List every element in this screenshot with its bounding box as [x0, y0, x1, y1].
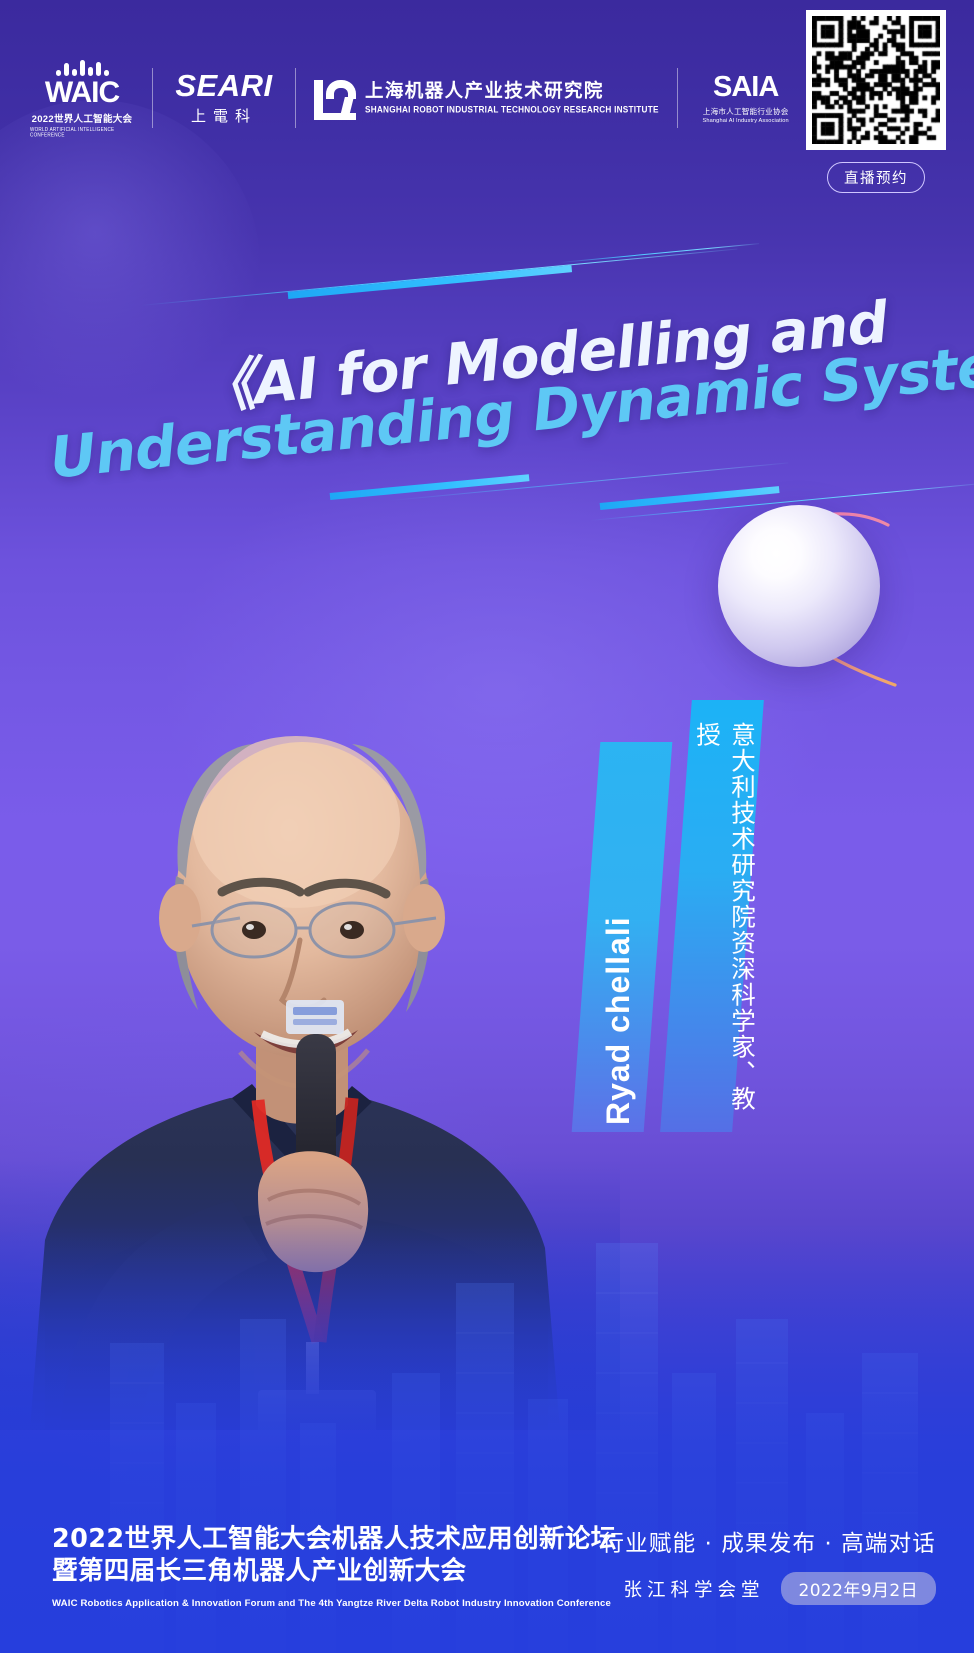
decor-line-thin-1: [140, 249, 737, 307]
poster-root: WAIC 2022世界人工智能大会 WORLD ARTIFICIAL INTEL…: [0, 0, 974, 1653]
seari-chinese-name: 上電科: [191, 105, 257, 126]
logo-divider: [152, 68, 153, 128]
footer-slogan: 行业赋能 · 成果发布 · 高端对话: [601, 1526, 936, 1558]
footer-right: 行业赋能 · 成果发布 · 高端对话 张江科学会堂 2022年9月2日: [601, 1526, 936, 1605]
logo-divider: [295, 68, 296, 128]
header: WAIC 2022世界人工智能大会 WORLD ARTIFICIAL INTEL…: [0, 0, 974, 175]
decor-line-thin-2: [560, 243, 759, 263]
decor-line-thick-1: [288, 265, 572, 299]
saia-english-name: Shanghai AI Industry Association: [703, 118, 789, 124]
footer-english-line: WAIC Robotics Application & Innovation F…: [52, 1598, 617, 1609]
footer-chinese-line-1: 2022世界人工智能大会机器人技术应用创新论坛: [52, 1523, 617, 1555]
seari-logo: SEARI 上電科: [171, 70, 277, 126]
waic-english-name: WORLD ARTIFICIAL INTELLIGENCE CONFERENCE: [30, 126, 134, 138]
waic-chinese-name: 2022世界人工智能大会: [32, 111, 133, 125]
waic-wordmark: WAIC: [45, 78, 119, 108]
qr-section: 直播预约: [806, 10, 946, 193]
saia-logo: SAIA 上海市人工智能行业协会 Shanghai AI Industry As…: [696, 73, 796, 124]
qr-code-icon[interactable]: [806, 10, 946, 150]
saia-wordmark: SAIA: [713, 73, 778, 102]
speaker-name: Ryad chellali: [600, 795, 637, 1125]
footer-date-badge: 2022年9月2日: [781, 1572, 937, 1605]
footer-venue: 张江科学会堂: [623, 1576, 764, 1602]
waic-logo: WAIC 2022世界人工智能大会 WORLD ARTIFICIAL INTEL…: [30, 59, 134, 137]
saia-chinese-name: 上海市人工智能行业协会: [703, 106, 789, 117]
waic-bars-icon: [56, 59, 109, 76]
footer-chinese-line-2: 暨第四届长三角机器人产业创新大会: [52, 1555, 617, 1587]
robot-institute-chinese-name: 上海机器人产业技术研究院: [365, 82, 659, 102]
seari-wordmark: SEARI: [175, 70, 272, 101]
footer: 2022世界人工智能大会机器人技术应用创新论坛 暨第四届长三角机器人产业创新大会…: [0, 1483, 974, 1653]
decorative-sphere: [718, 505, 880, 667]
partner-logos: WAIC 2022世界人工智能大会 WORLD ARTIFICIAL INTEL…: [30, 52, 796, 144]
footer-left: 2022世界人工智能大会机器人技术应用创新论坛 暨第四届长三角机器人产业创新大会…: [52, 1523, 617, 1609]
robot-institute-mark-icon: [314, 76, 356, 120]
live-reservation-button[interactable]: 直播预约: [827, 162, 925, 193]
shanghai-robot-institute-logo: 上海机器人产业技术研究院 SHANGHAI ROBOT INDUSTRIAL T…: [314, 76, 659, 120]
robot-institute-english-name: SHANGHAI ROBOT INDUSTRIAL TECHNOLOGY RES…: [365, 105, 659, 115]
logo-divider: [677, 68, 678, 128]
speaker-role: 意大利技术研究院资深科学家、教授: [690, 722, 760, 1122]
